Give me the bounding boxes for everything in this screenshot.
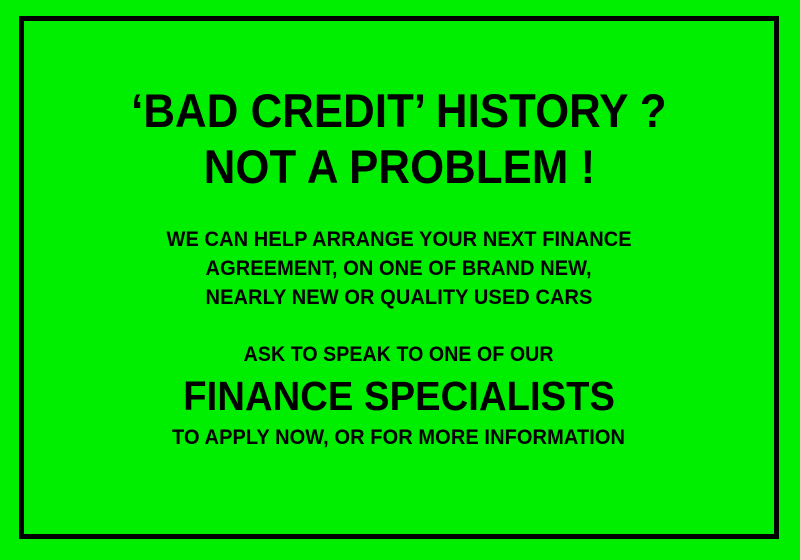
poster-content: ‘BAD CREDIT’ HISTORY ? NOT A PROBLEM ! W…: [24, 21, 774, 534]
cta-lead-text: ASK TO SPEAK TO ONE OF OUR: [244, 340, 554, 370]
body-copy-block: WE CAN HELP ARRANGE YOUR NEXT FINANCE AG…: [149, 225, 649, 312]
headline-line-1: ‘BAD CREDIT’ HISTORY ?: [131, 83, 667, 139]
call-to-action-block: ASK TO SPEAK TO ONE OF OUR FINANCE SPECI…: [155, 340, 642, 452]
body-line-1: WE CAN HELP ARRANGE YOUR NEXT FINANCE: [166, 225, 631, 254]
body-line-3: NEARLY NEW OR QUALITY USED CARS: [206, 283, 593, 312]
cta-emphasis-text: FINANCE SPECIALISTS: [183, 370, 615, 422]
headline-block: ‘BAD CREDIT’ HISTORY ? NOT A PROBLEM !: [111, 83, 687, 195]
cta-footer-text: TO APPLY NOW, OR FOR MORE INFORMATION: [173, 422, 626, 452]
poster-canvas: ‘BAD CREDIT’ HISTORY ? NOT A PROBLEM ! W…: [0, 0, 800, 560]
body-line-2: AGREEMENT, ON ONE OF BRAND NEW,: [206, 254, 592, 283]
headline-line-2: NOT A PROBLEM !: [203, 139, 595, 195]
